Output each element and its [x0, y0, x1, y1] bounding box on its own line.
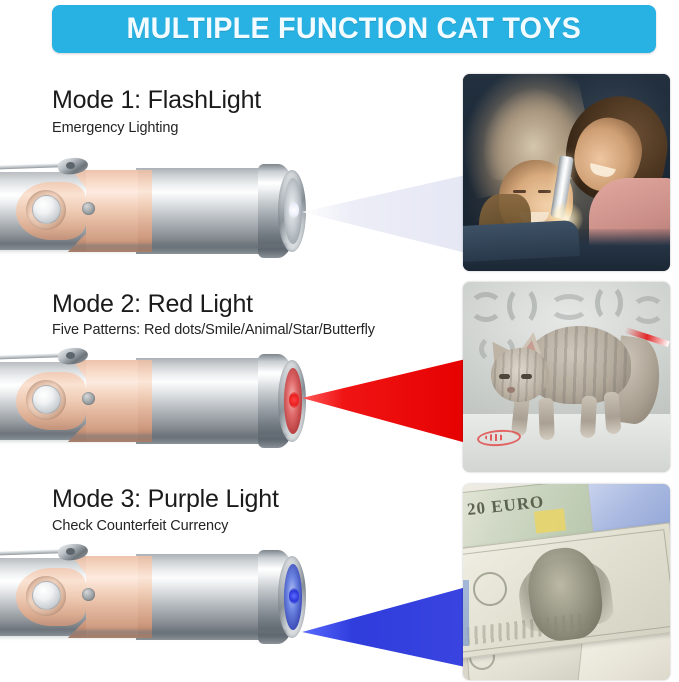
girl-eye-left [513, 190, 526, 193]
power-button[interactable] [32, 195, 61, 224]
kitten-leg [580, 396, 597, 439]
red-laser-beam [296, 340, 472, 470]
red-laser-dots [485, 434, 505, 441]
led-indicator-icon [82, 202, 95, 215]
flashlight-mode-2 [0, 352, 316, 448]
tube-shading [0, 434, 286, 444]
photo-mode-1 [463, 74, 670, 271]
power-button[interactable] [32, 581, 61, 610]
page-title-banner: MULTIPLE FUNCTION CAT TOYS [52, 5, 656, 53]
white-light-beam [296, 150, 472, 280]
flashlight-barrel [136, 168, 276, 254]
wallpaper-pattern [469, 292, 503, 322]
page-title: MULTIPLE FUNCTION CAT TOYS [127, 12, 582, 46]
led-indicator-icon [82, 392, 95, 405]
mode-2-subtitle: Five Patterns: Red dots/Smile/Animal/Sta… [52, 322, 375, 338]
flashlight-mode-1 [0, 162, 316, 258]
uv-glow-edge [463, 580, 469, 646]
mode-2-heading: Mode 2: Red Light [52, 290, 253, 319]
flashlight-mode-3 [0, 548, 316, 644]
clip-hole [66, 162, 75, 169]
pocket-clip [0, 348, 96, 366]
flashlight-barrel [136, 358, 276, 444]
power-button[interactable] [32, 385, 61, 414]
led-indicator-icon [82, 588, 95, 601]
kitten-nose [507, 387, 515, 393]
kitten-leg [604, 392, 622, 435]
flashlight-barrel [136, 554, 276, 640]
tube-shading [0, 630, 286, 640]
kitten-eye-left [499, 374, 510, 379]
clip-hole [66, 548, 75, 555]
pocket-clip [0, 158, 96, 176]
tube-shading [0, 244, 286, 254]
girl-eye-right [538, 190, 551, 193]
pocket-clip [0, 544, 96, 562]
wallpaper-pattern [507, 286, 537, 326]
mode-1-subtitle: Emergency Lighting [52, 120, 178, 136]
product-infographic-page: MULTIPLE FUNCTION CAT TOYS Mode 1: Flash… [0, 0, 679, 682]
wallpaper-pattern [549, 294, 589, 320]
kitten-eye-right [521, 374, 532, 379]
clip-hole [66, 352, 75, 359]
bed-edge [463, 220, 580, 262]
photo-mode-3: 20 EURO [463, 484, 670, 680]
kitten-leg [538, 398, 554, 440]
mode-3-subtitle: Check Counterfeit Currency [52, 518, 228, 534]
mode-3-heading: Mode 3: Purple Light [52, 485, 279, 514]
mode-1-heading: Mode 1: FlashLight [52, 86, 261, 115]
wallpaper-pattern [595, 284, 623, 322]
wallpaper-pattern [631, 296, 665, 324]
photo-mode-2 [463, 282, 670, 472]
purple-uv-beam [296, 556, 472, 676]
